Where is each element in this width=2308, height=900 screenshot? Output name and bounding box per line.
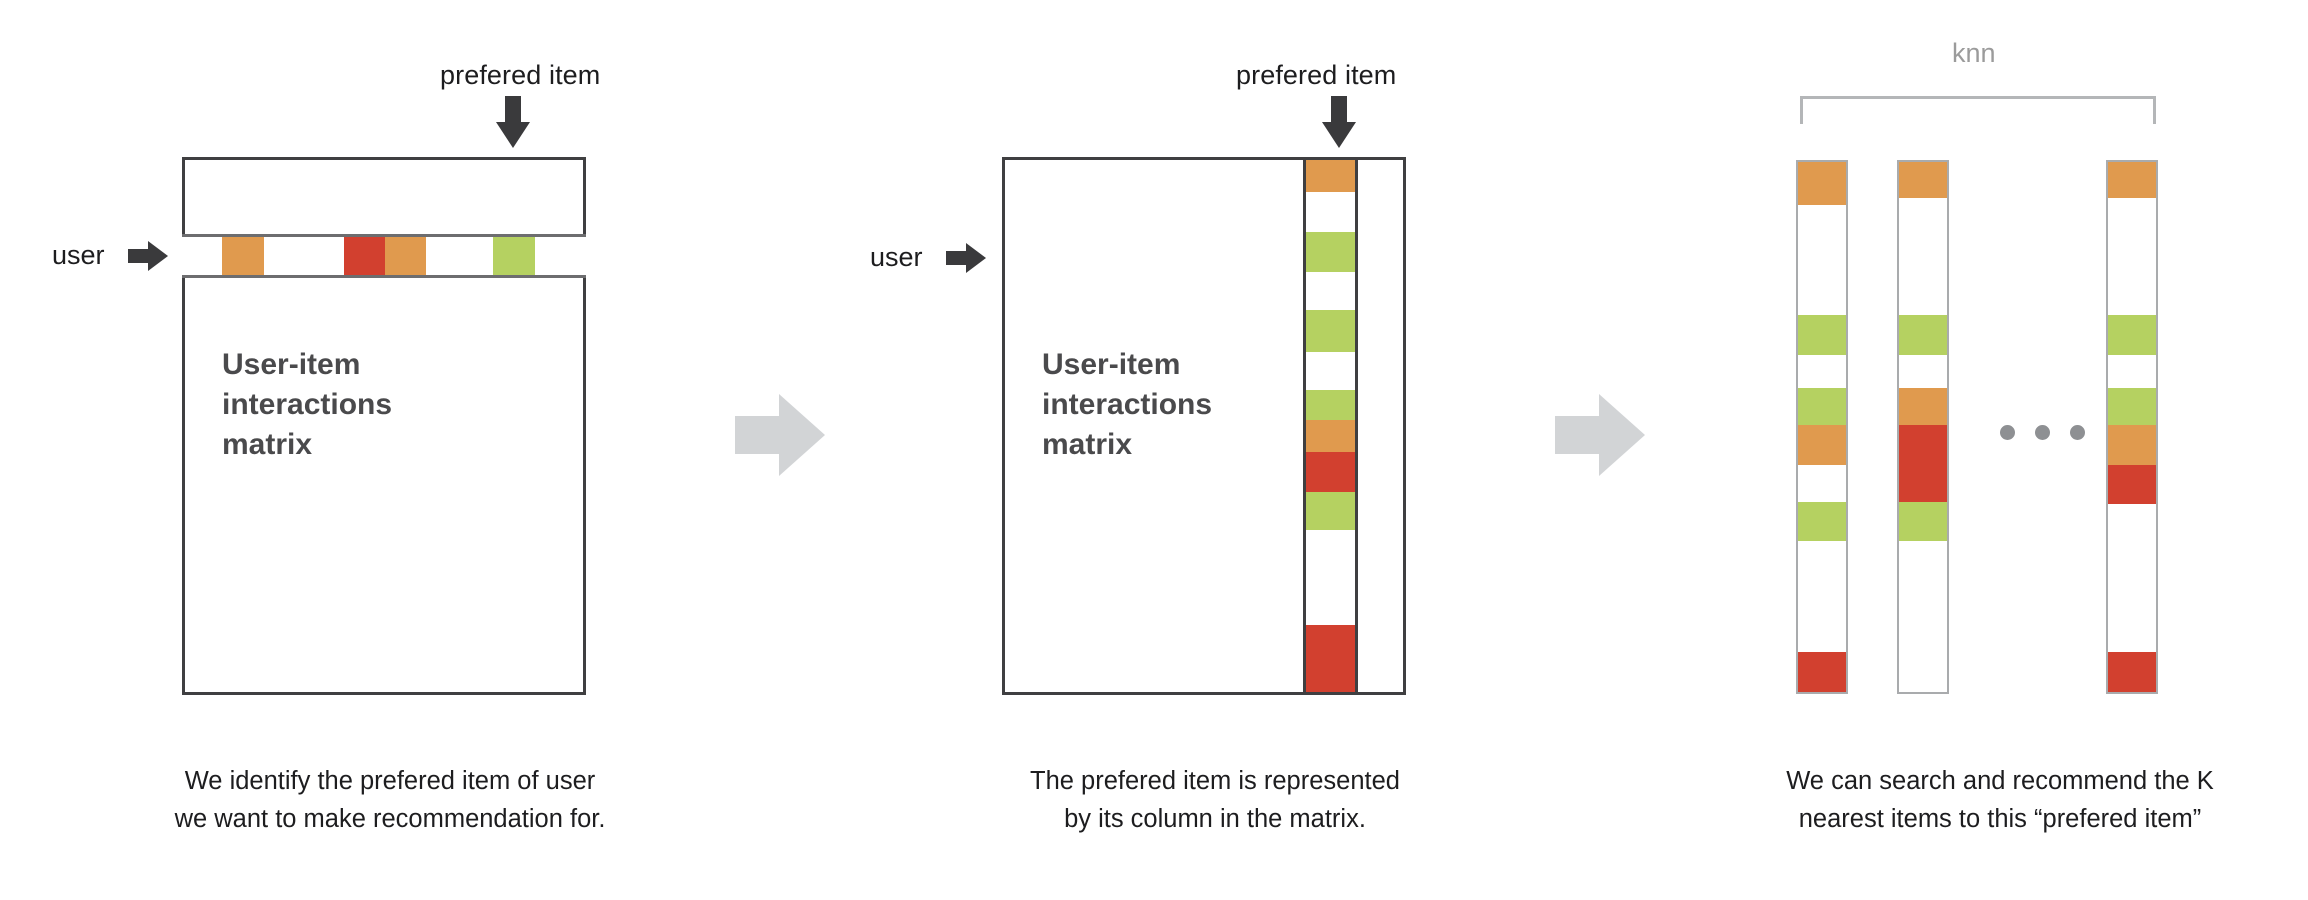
prefered-item-cell xyxy=(1306,625,1355,692)
arrow-head xyxy=(1322,122,1356,148)
user-right-arrow-1 xyxy=(128,241,168,271)
step-arrow-2-to-3 xyxy=(1555,394,1645,476)
arrow-shaft xyxy=(1555,416,1603,454)
arrow-shaft xyxy=(946,251,968,265)
knn-cell xyxy=(1899,388,1947,425)
user-right-arrow-2 xyxy=(946,243,986,273)
knn-column-3 xyxy=(2106,160,2158,694)
prefered-item-cell xyxy=(1306,310,1355,352)
arrow-head xyxy=(779,394,825,476)
knn-column-1 xyxy=(1796,160,1848,694)
prefered-item-cell xyxy=(1306,452,1355,492)
prefered-item-column xyxy=(1303,160,1358,692)
knn-cell xyxy=(1798,205,1846,315)
arrow-head xyxy=(1599,394,1645,476)
user-row-cell xyxy=(264,237,344,275)
arrow-head xyxy=(966,243,986,273)
knn-cell xyxy=(1899,162,1947,198)
knn-cell xyxy=(2108,425,2156,465)
arrow-shaft xyxy=(735,416,783,454)
prefered-item-cell xyxy=(1306,530,1355,625)
caption-3: We can search and recommend the K neares… xyxy=(1730,762,2270,838)
knn-cell xyxy=(2108,388,2156,425)
knn-label: knn xyxy=(1952,38,1996,69)
caption-2: The prefered item is represented by its … xyxy=(950,762,1480,838)
user-row-cell xyxy=(182,237,222,275)
knn-cell xyxy=(2108,465,2156,505)
ellipsis-dot xyxy=(2000,425,2015,440)
user-row-cell xyxy=(426,237,493,275)
ellipsis-dot xyxy=(2070,425,2085,440)
arrow-head xyxy=(148,241,168,271)
knn-column-2 xyxy=(1897,160,1949,694)
knn-cell xyxy=(1798,502,1846,542)
knn-cell xyxy=(1798,541,1846,651)
knn-cell xyxy=(1798,388,1846,425)
knn-cell xyxy=(2108,652,2156,692)
step-arrow-1-to-2 xyxy=(735,394,825,476)
matrix-label-2: User-item interactions matrix xyxy=(1042,345,1212,465)
knn-cell xyxy=(2108,504,2156,652)
user-row-cell xyxy=(385,237,426,275)
user-row-cell xyxy=(493,237,535,275)
user-label-2: user xyxy=(870,242,923,273)
ellipsis-dot xyxy=(2035,425,2050,440)
knn-cell xyxy=(1798,652,1846,692)
user-label-1: user xyxy=(52,240,105,271)
arrow-shaft xyxy=(1331,96,1347,124)
knn-cell xyxy=(1899,315,1947,355)
diagram-canvas: prefered item user User-item interaction… xyxy=(0,0,2308,900)
knn-cell xyxy=(1899,198,1947,315)
prefered-item-cell xyxy=(1306,390,1355,420)
prefered-item-cell xyxy=(1306,192,1355,232)
caption-1: We identify the prefered item of user we… xyxy=(100,762,680,838)
knn-cell xyxy=(1899,502,1947,542)
prefered-item-label-2: prefered item xyxy=(1236,60,1396,91)
prefered-item-down-arrow-2 xyxy=(1322,96,1356,148)
prefered-item-cell xyxy=(1306,160,1355,192)
matrix-label-1: User-item interactions matrix xyxy=(222,345,392,465)
knn-cell xyxy=(2108,198,2156,315)
user-row-cell xyxy=(222,237,264,275)
prefered-item-label-1: prefered item xyxy=(440,60,600,91)
prefered-item-cell xyxy=(1306,352,1355,390)
knn-cell xyxy=(1798,355,1846,388)
arrow-shaft xyxy=(128,249,150,263)
knn-cell xyxy=(1899,355,1947,388)
knn-cell xyxy=(2108,162,2156,198)
ellipsis-indicator xyxy=(2000,425,2085,440)
knn-cell xyxy=(1798,465,1846,502)
knn-cell xyxy=(1899,425,1947,502)
knn-cell xyxy=(1798,315,1846,355)
prefered-item-cell xyxy=(1306,420,1355,452)
prefered-item-down-arrow-1 xyxy=(496,96,530,148)
knn-cell xyxy=(1798,162,1846,205)
knn-cell xyxy=(1798,425,1846,465)
arrow-shaft xyxy=(505,96,521,124)
prefered-item-cell xyxy=(1306,492,1355,530)
knn-cell xyxy=(2108,315,2156,355)
user-row-cell xyxy=(535,237,586,275)
prefered-item-cell xyxy=(1306,232,1355,272)
prefered-item-cell xyxy=(1306,272,1355,310)
arrow-head xyxy=(496,122,530,148)
knn-cell xyxy=(1899,541,1947,692)
user-row-highlight xyxy=(182,234,586,278)
knn-bracket xyxy=(1800,96,2156,124)
user-row-cell xyxy=(344,237,386,275)
knn-cell xyxy=(2108,355,2156,388)
